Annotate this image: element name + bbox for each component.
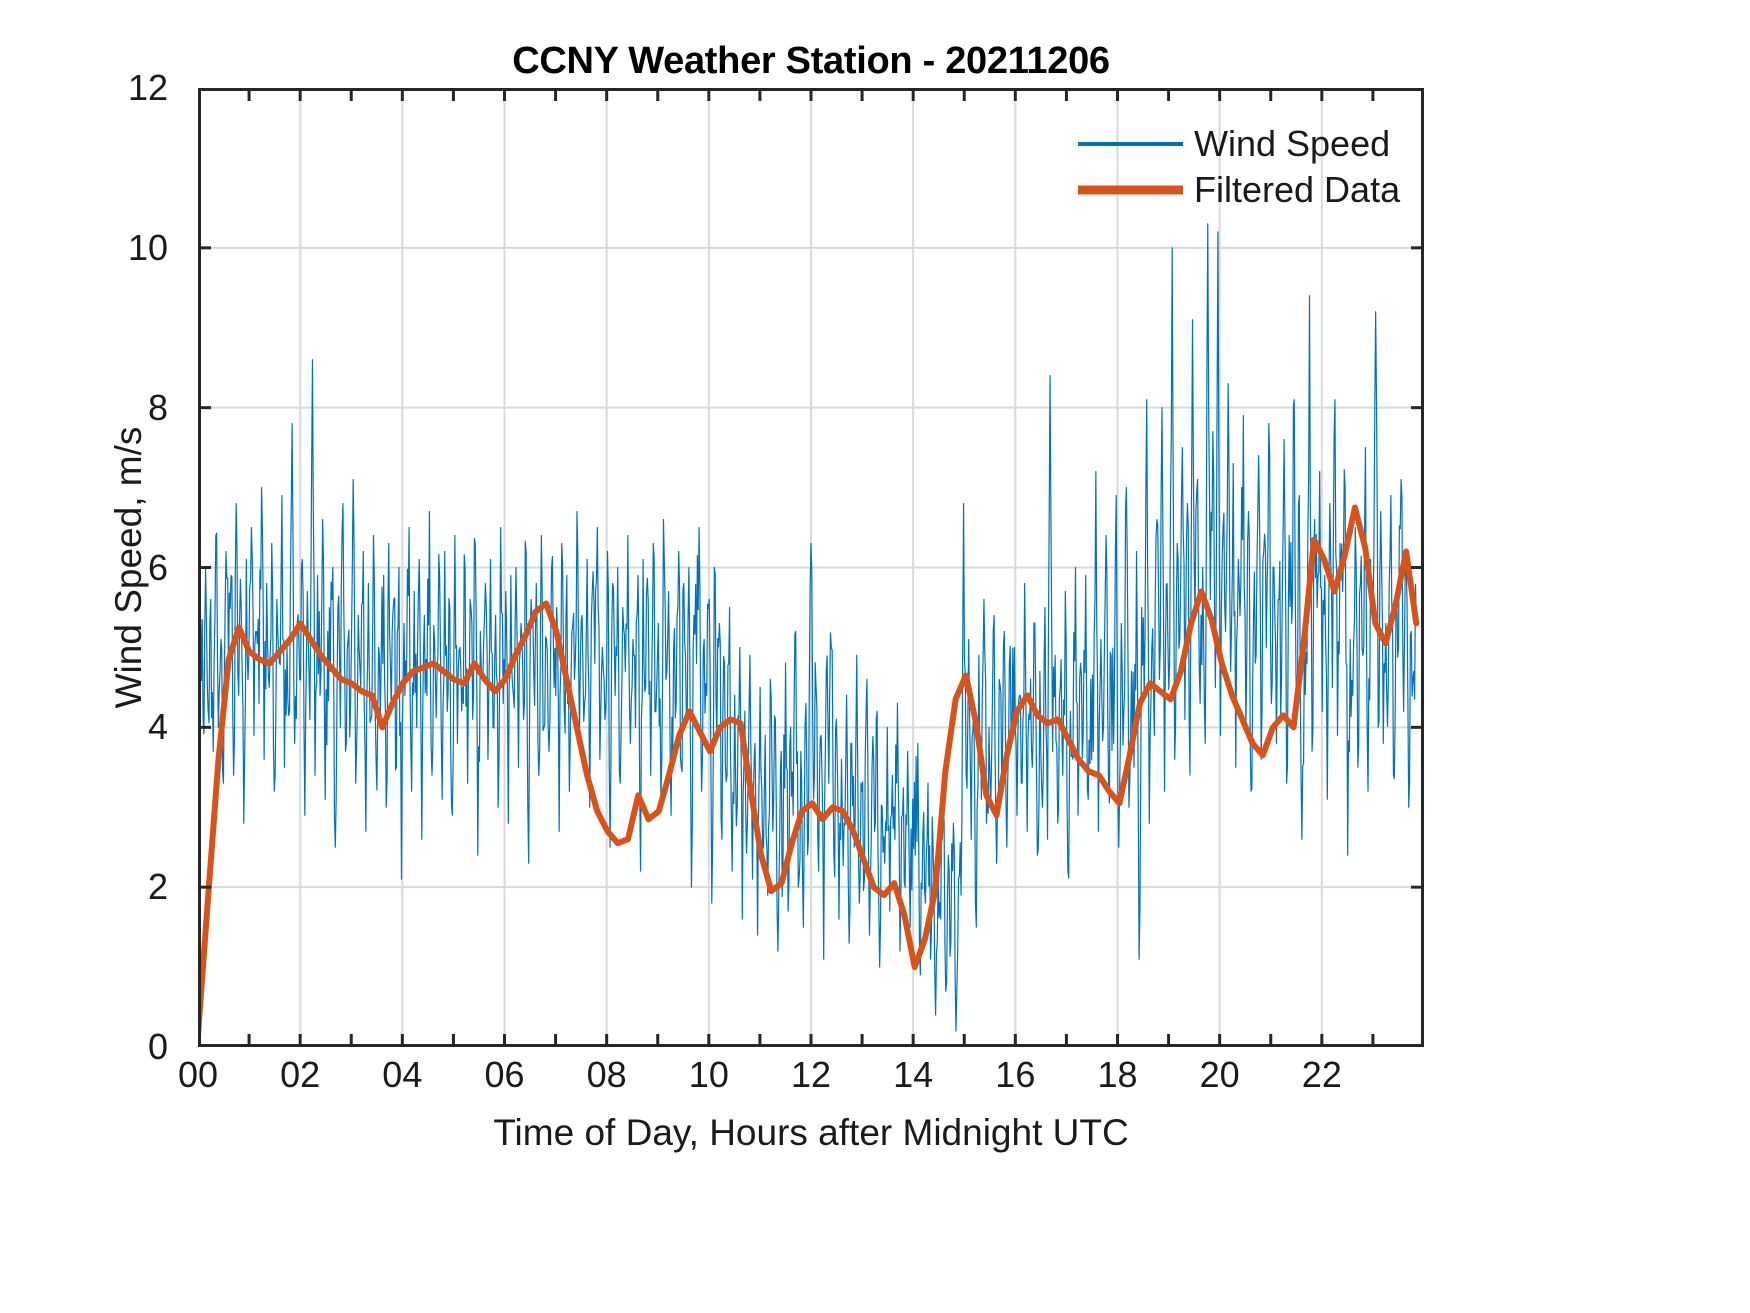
legend-item[interactable]: Wind Speed: [1078, 122, 1408, 165]
y-axis-label: Wind Speed, m/s: [108, 88, 150, 1047]
x-tick-label: 02: [280, 1054, 320, 1096]
y-tick-label: 6: [148, 547, 182, 589]
x-tick-label: 22: [1302, 1054, 1342, 1096]
x-tick-label: 16: [995, 1054, 1035, 1096]
x-tick-label: 14: [893, 1054, 933, 1096]
y-tick-label: 8: [148, 387, 182, 429]
legend: Wind SpeedFiltered Data: [1078, 122, 1408, 208]
y-tick-label: 2: [148, 866, 182, 908]
plot-area: [198, 88, 1424, 1047]
y-tick-label: 4: [148, 706, 182, 748]
legend-label: Wind Speed: [1194, 123, 1390, 165]
figure-canvas: CCNY Weather Station - 20211206 02468101…: [0, 0, 1750, 1313]
plot-svg: [198, 88, 1424, 1047]
legend-swatch-wind-speed: [1078, 142, 1183, 146]
chart-title: CCNY Weather Station - 20211206: [198, 40, 1424, 83]
x-axis-label: Time of Day, Hours after Midnight UTC: [198, 1112, 1424, 1154]
legend-item[interactable]: Filtered Data: [1078, 168, 1408, 211]
legend-swatch-filtered-data: [1078, 185, 1183, 194]
x-tick-label: 06: [484, 1054, 524, 1096]
x-tick-label: 12: [791, 1054, 831, 1096]
x-tick-label: 20: [1200, 1054, 1240, 1096]
x-tick-label: 10: [689, 1054, 729, 1096]
y-tick-label: 0: [148, 1026, 182, 1068]
x-tick-label: 18: [1097, 1054, 1137, 1096]
x-tick-label: 08: [587, 1054, 627, 1096]
legend-label: Filtered Data: [1194, 169, 1400, 211]
x-tick-label: 04: [382, 1054, 422, 1096]
x-tick-label: 00: [178, 1054, 218, 1096]
x-axis-tick-labels: 000204060810121416182022: [198, 1054, 1424, 1104]
y-axis-tick-labels: 024681012: [0, 88, 182, 1047]
